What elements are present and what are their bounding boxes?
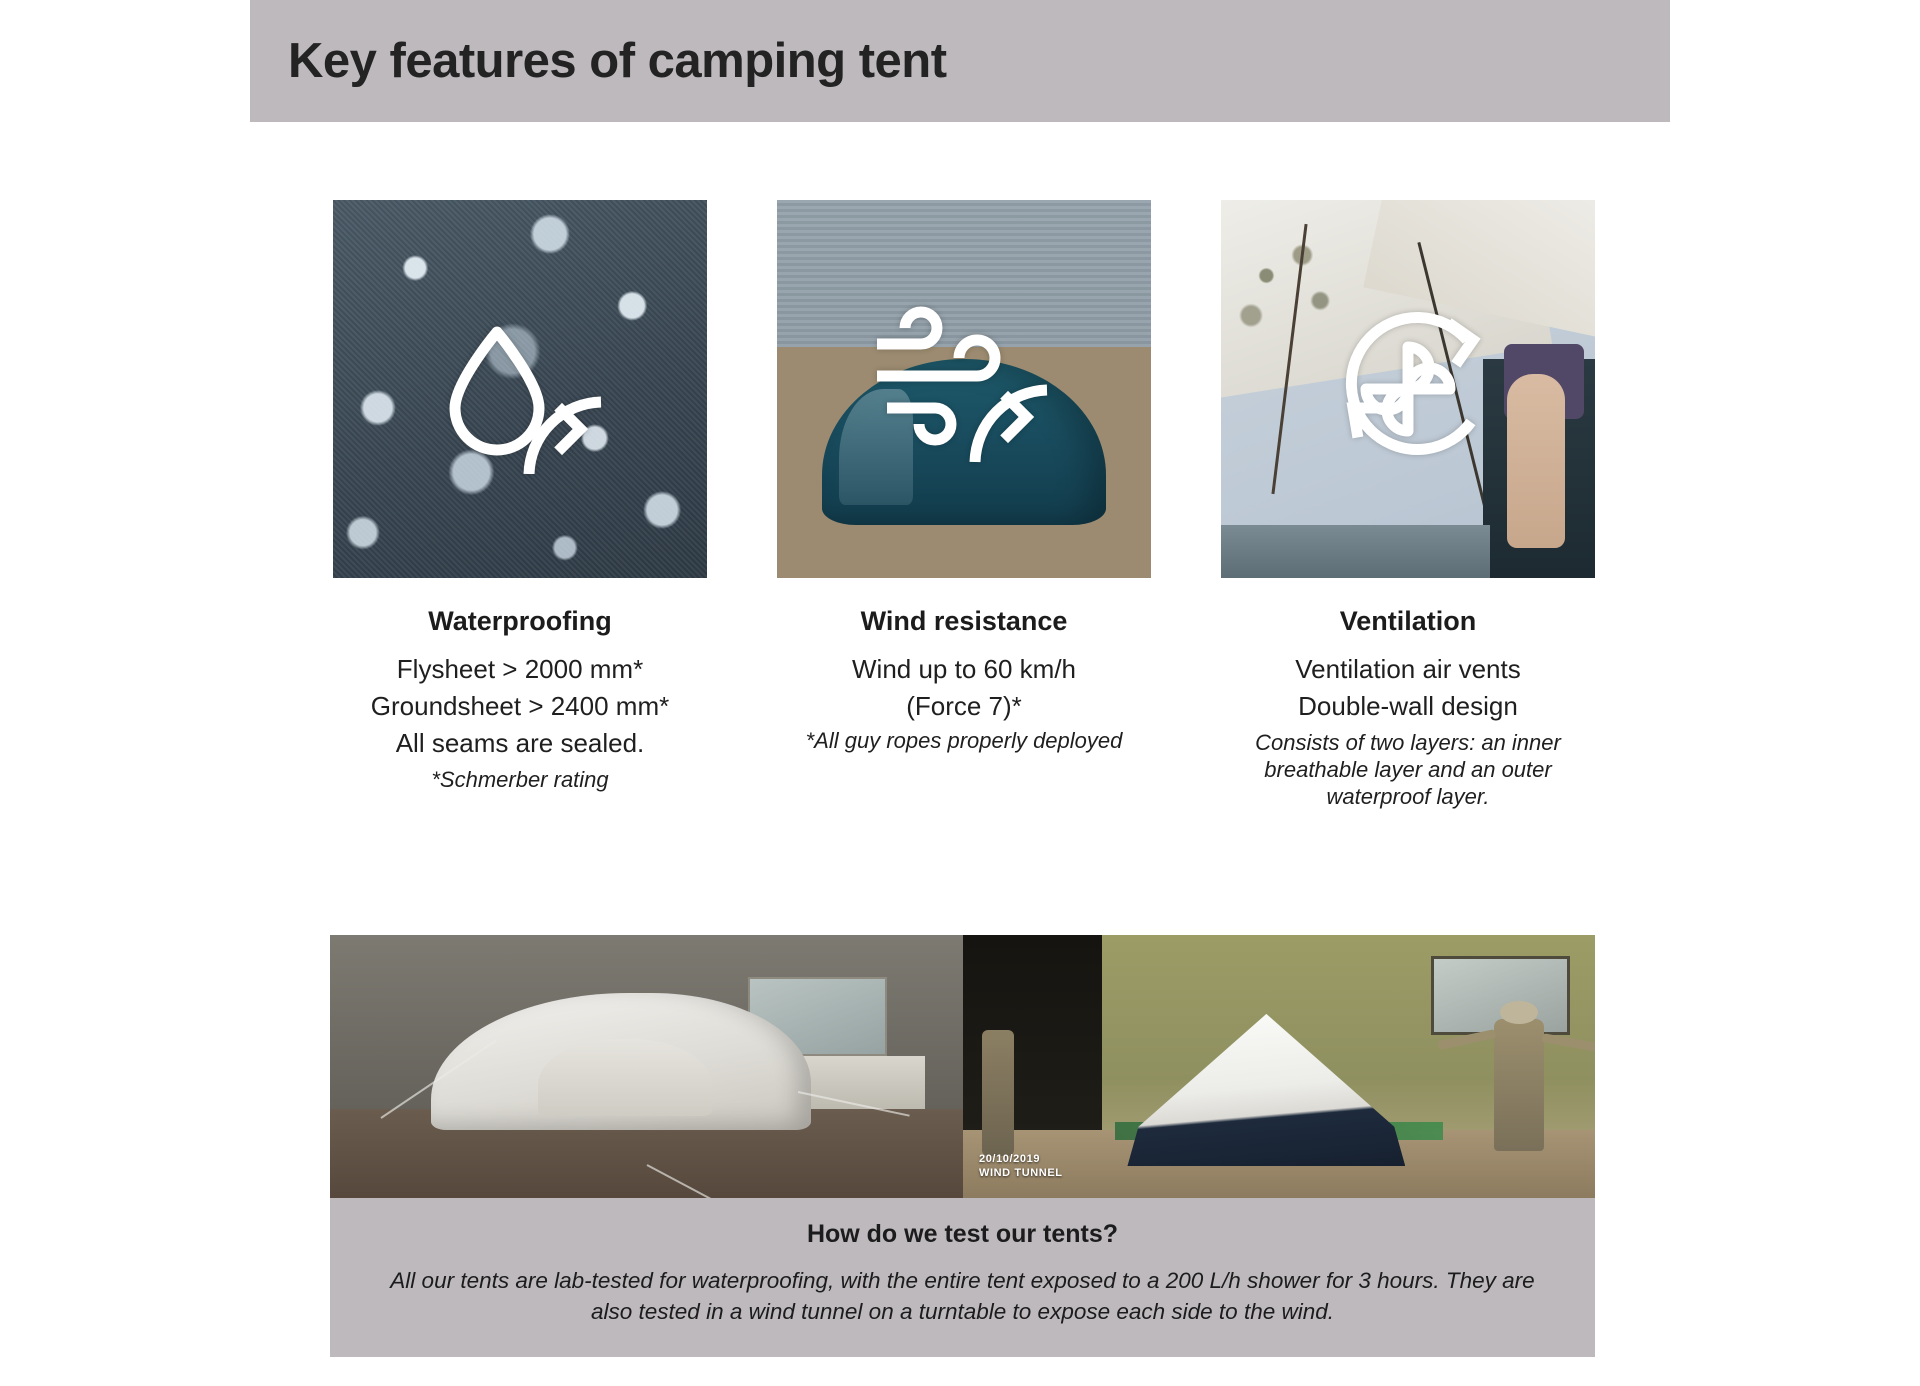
test-question: How do we test our tents?: [376, 1220, 1549, 1249]
dome-tent-wind-tunnel-test-photo: 20/10/2019 WIND TUNNEL: [963, 935, 1595, 1198]
feature-note: *All guy ropes properly deployed: [806, 727, 1123, 754]
stamp-label: WIND TUNNEL: [979, 1166, 1063, 1180]
ground-band: [1221, 525, 1490, 578]
feature-columns: Waterproofing Flysheet > 2000 mm* Ground…: [330, 200, 1598, 810]
person-leg: [1507, 374, 1565, 548]
test-caption-box: How do we test our tents? All our tents …: [330, 1198, 1595, 1357]
slide-root: Key features of camping tent Waterproofi…: [0, 0, 1920, 1386]
video-timestamp-overlay: 20/10/2019 WIND TUNNEL: [979, 1152, 1063, 1180]
header-banner: Key features of camping tent: [250, 0, 1670, 122]
ventilation-photo: [1221, 200, 1595, 578]
feature-lines: Wind up to 60 km/h (Force 7)*: [852, 651, 1076, 725]
page-title: Key features of camping tent: [288, 33, 947, 89]
wind-gust-icon: [869, 304, 1059, 474]
feature-line: Flysheet > 2000 mm*: [371, 651, 669, 688]
feature-title: Wind resistance: [861, 606, 1068, 637]
dome-tent-shape: [1127, 1014, 1405, 1167]
test-section: 20/10/2019 WIND TUNNEL How do we test ou…: [330, 935, 1595, 1357]
white-popup-tent-shower-test-photo: [330, 935, 963, 1198]
test-description: All our tents are lab-tested for waterpr…: [376, 1265, 1549, 1327]
feature-card-wind-resistance: Wind resistance Wind up to 60 km/h (Forc…: [774, 200, 1154, 810]
helmet: [1500, 1001, 1538, 1025]
technician-left: [982, 1030, 1014, 1156]
feature-line: (Force 7)*: [852, 688, 1076, 725]
feature-note: *Schmerber rating: [431, 766, 608, 793]
feature-line: Groundsheet > 2400 mm*: [371, 688, 669, 725]
waterproofing-photo: [333, 200, 707, 578]
technician-right: [1494, 1019, 1545, 1151]
feature-line: Wind up to 60 km/h: [852, 651, 1076, 688]
stamp-date: 20/10/2019: [979, 1152, 1063, 1166]
fan-rotation-icon: [1313, 304, 1503, 474]
feature-card-ventilation: Ventilation Ventilation air vents Double…: [1218, 200, 1598, 810]
feature-note: Consists of two layers: an inner breatha…: [1218, 729, 1598, 810]
feature-line: Double-wall design: [1295, 688, 1520, 725]
test-media-row: 20/10/2019 WIND TUNNEL: [330, 935, 1595, 1198]
feature-title: Ventilation: [1340, 606, 1477, 637]
feature-line: All seams are sealed.: [371, 725, 669, 762]
feature-line: Ventilation air vents: [1295, 651, 1520, 688]
feature-lines: Flysheet > 2000 mm* Groundsheet > 2400 m…: [371, 651, 669, 762]
feature-title: Waterproofing: [428, 606, 611, 637]
feature-lines: Ventilation air vents Double-wall design: [1295, 651, 1520, 725]
wind-resistance-photo: [777, 200, 1151, 578]
feature-card-waterproofing: Waterproofing Flysheet > 2000 mm* Ground…: [330, 200, 710, 810]
water-drop-shield-icon: [425, 304, 615, 474]
dome-tent-body: [1127, 1014, 1405, 1167]
